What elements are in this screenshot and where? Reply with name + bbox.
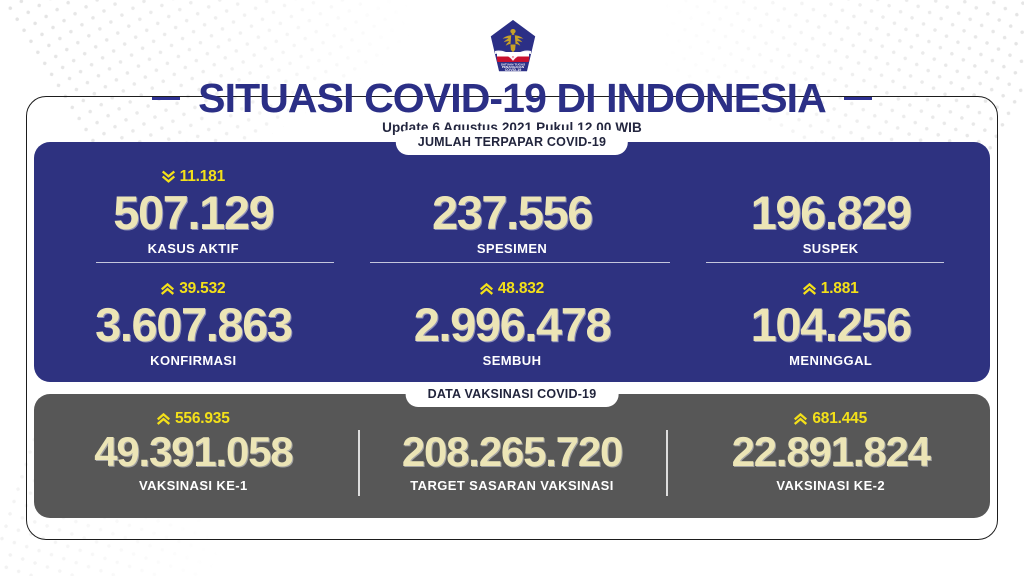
label-sembuh: SEMBUH — [353, 353, 672, 368]
stat-sembuh: 48.832 2.996.478 SEMBUH — [353, 278, 672, 368]
label-spesimen: SPESIMEN — [353, 241, 672, 256]
delta-meninggal: 1.881 — [671, 278, 990, 300]
divider-horizontal-left — [96, 262, 334, 263]
delta-value-vaksinasi-ke-2: 681.445 — [812, 410, 867, 428]
satgas-covid19-logo: SATUAN TUGAS PENANGANAN COVID-19 — [489, 18, 537, 74]
chevron-double-up-icon — [794, 412, 807, 426]
stat-suspek: 196.829 SUSPEK — [671, 166, 990, 256]
title-dash-left — [152, 97, 180, 100]
label-meninggal: MENINGGAL — [671, 353, 990, 368]
chevron-double-down-icon — [162, 170, 175, 184]
delta-vaksinasi-ke-1: 556.935 — [34, 408, 353, 430]
label-konfirmasi: KONFIRMASI — [34, 353, 353, 368]
value-vaksinasi-ke-1: 49.391.058 — [34, 430, 353, 475]
logo-text-line3: COVID-19 — [505, 68, 522, 72]
badge-jumlah-terpapar: JUMLAH TERPAPAR COVID-19 — [396, 130, 628, 155]
delta-konfirmasi: 39.532 — [34, 278, 353, 300]
label-kasus-aktif: KASUS AKTIF — [34, 241, 353, 256]
delta-kasus-aktif: 11.181 — [34, 166, 353, 188]
label-vaksinasi-ke-2: VAKSINASI KE-2 — [671, 478, 990, 493]
stat-konfirmasi: 39.532 3.607.863 KONFIRMASI — [34, 278, 353, 368]
value-vaksinasi-ke-2: 22.891.824 — [671, 430, 990, 475]
label-vaksinasi-ke-1: VAKSINASI KE-1 — [34, 478, 353, 493]
value-sembuh: 2.996.478 — [353, 300, 672, 350]
value-target-sasaran-vaksinasi: 208.265.720 — [353, 430, 672, 475]
panel-jumlah-terpapar: JUMLAH TERPAPAR COVID-19 11.181 507.129 … — [34, 142, 990, 382]
value-kasus-aktif: 507.129 — [34, 188, 353, 238]
title-dash-right — [844, 97, 872, 100]
stat-vaksinasi-ke-2: 681.445 22.891.824 VAKSINASI KE-2 — [671, 408, 990, 493]
value-suspek: 196.829 — [671, 188, 990, 238]
vaksinasi-row-1: 556.935 49.391.058 VAKSINASI KE-1 208.26… — [34, 408, 990, 493]
stat-vaksinasi-ke-1: 556.935 49.391.058 VAKSINASI KE-1 — [34, 408, 353, 493]
stat-meninggal: 1.881 104.256 MENINGGAL — [671, 278, 990, 368]
stat-target-sasaran-vaksinasi: 208.265.720 TARGET SASARAN VAKSINASI — [353, 408, 672, 493]
badge-data-vaksinasi: DATA VAKSINASI COVID-19 — [406, 382, 619, 407]
infographic-canvas: SATUAN TUGAS PENANGANAN COVID-19 SITUASI… — [0, 0, 1024, 576]
delta-sembuh: 48.832 — [353, 278, 672, 300]
delta-value-konfirmasi: 39.532 — [179, 280, 225, 298]
delta-value-vaksinasi-ke-1: 556.935 — [175, 410, 230, 428]
delta-value-kasus-aktif: 11.181 — [180, 168, 225, 186]
delta-value-meninggal: 1.881 — [821, 280, 859, 298]
panel-data-vaksinasi: DATA VAKSINASI COVID-19 556.935 49.391.0… — [34, 394, 990, 518]
terpapar-row-1: 11.181 507.129 KASUS AKTIF 237.556 SPESI… — [34, 166, 990, 256]
value-meninggal: 104.256 — [671, 300, 990, 350]
label-target-sasaran-vaksinasi: TARGET SASARAN VAKSINASI — [353, 478, 672, 493]
chevron-double-up-icon — [803, 282, 816, 296]
page-title-row: SITUASI COVID-19 DI INDONESIA — [0, 78, 1024, 119]
value-konfirmasi: 3.607.863 — [34, 300, 353, 350]
chevron-double-up-icon — [157, 412, 170, 426]
delta-vaksinasi-ke-2: 681.445 — [671, 408, 990, 430]
chevron-double-up-icon — [480, 282, 493, 296]
delta-value-sembuh: 48.832 — [498, 280, 544, 298]
divider-horizontal-right — [706, 262, 944, 263]
terpapar-row-2: 39.532 3.607.863 KONFIRMASI 48.832 2.996… — [34, 278, 990, 368]
label-suspek: SUSPEK — [671, 241, 990, 256]
stat-spesimen: 237.556 SPESIMEN — [353, 166, 672, 256]
chevron-double-up-icon — [161, 282, 174, 296]
stat-kasus-aktif: 11.181 507.129 KASUS AKTIF — [34, 166, 353, 256]
divider-horizontal-center — [370, 262, 670, 263]
value-spesimen: 237.556 — [353, 188, 672, 238]
page-title: SITUASI COVID-19 DI INDONESIA — [198, 78, 826, 119]
